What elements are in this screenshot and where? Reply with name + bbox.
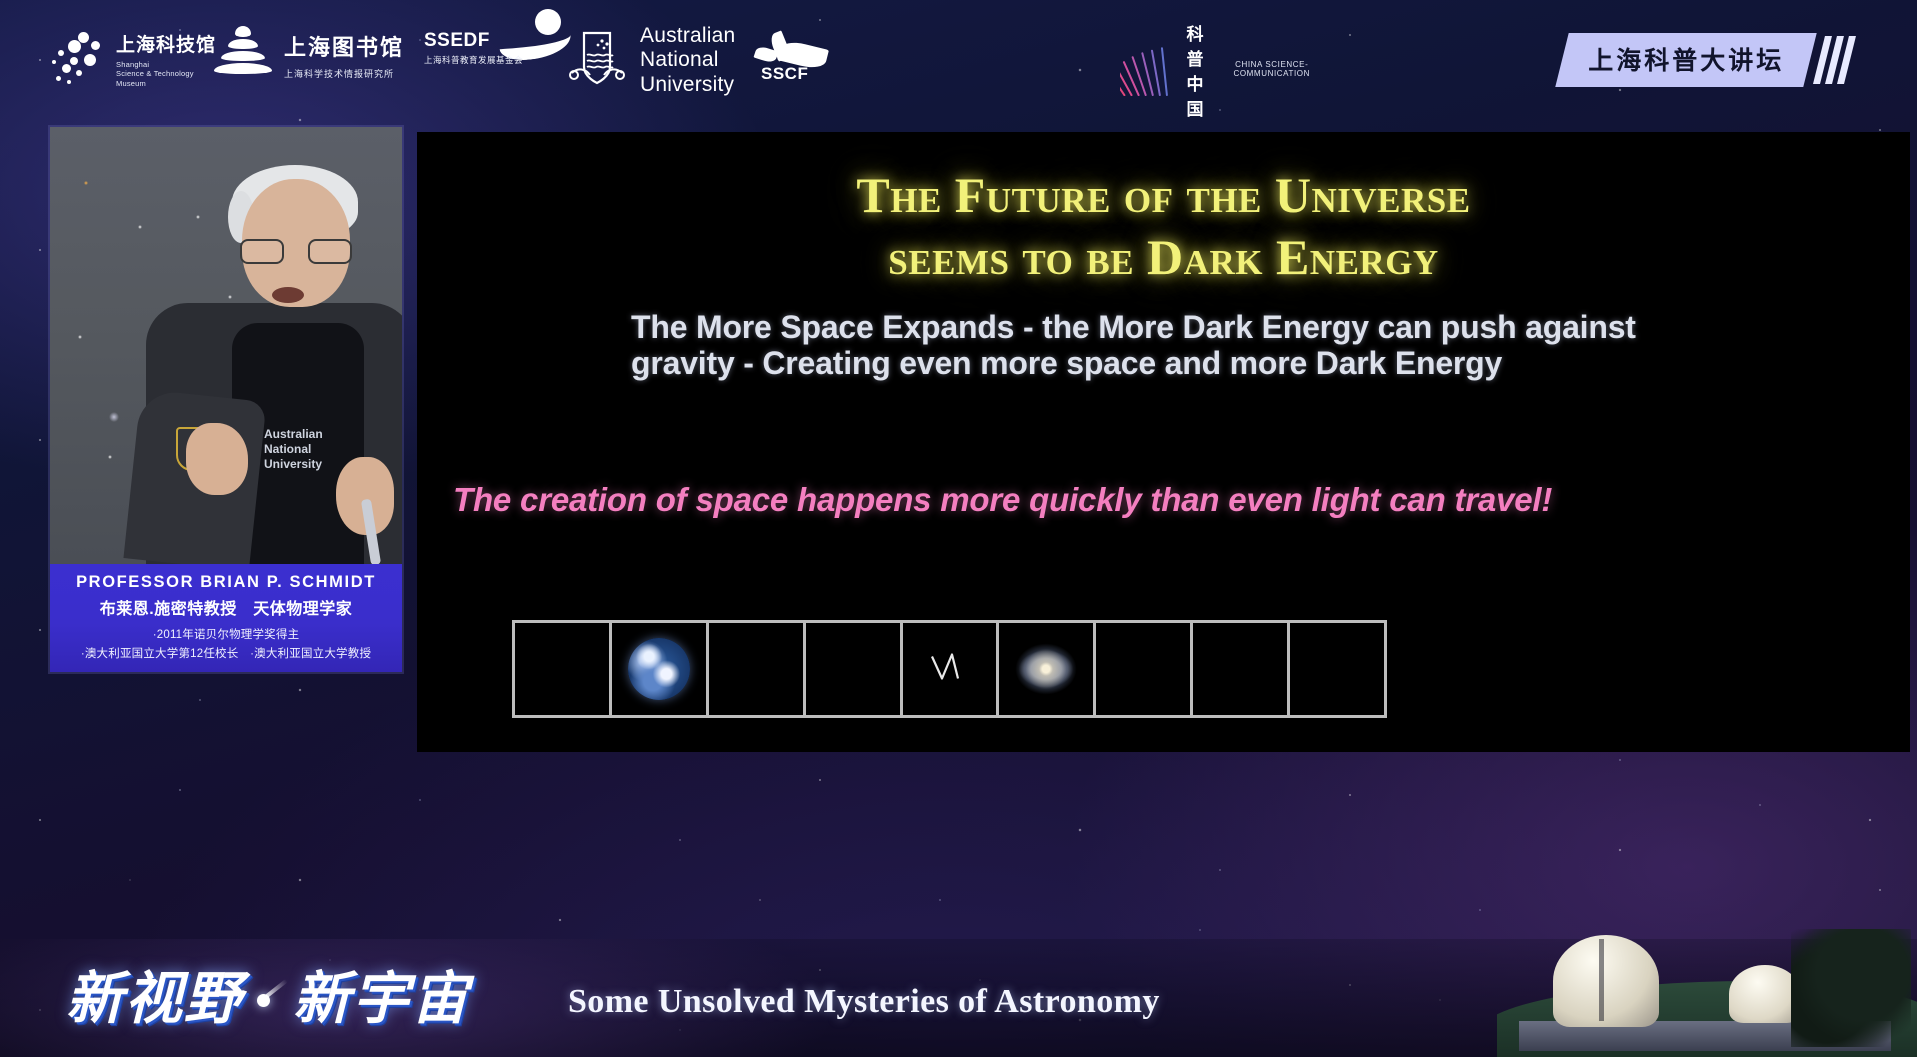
speaker-credential-1: ·2011年诺贝尔物理学奖得主 [50,626,402,642]
museum-name-en: Shanghai Science & Technology Museum [116,60,216,88]
filmstrip-cell [999,623,1096,715]
slide-body-text: The More Space Expands - the More Dark E… [631,310,1691,382]
museum-name-cn: 上海科技馆 [116,30,216,57]
speaker-hand-left [186,423,248,495]
filmstrip-cell [612,623,709,715]
logo-shanghai-science-technology-museum: 上海科技馆 Shanghai Science & Technology Muse… [48,30,216,88]
speaker-credential-2: ·澳大利亚国立大学第12任校长 ·澳大利亚国立大学教授 [50,645,402,661]
speaker-video-feed[interactable]: Australian National University [50,127,402,564]
filmstrip-cell [806,623,903,715]
presentation-slide[interactable]: The Future of the Universe seems to be D… [417,132,1910,752]
logo-sscf: SSCF [755,36,831,82]
observatory-illustration [1497,929,1917,1057]
filmstrip-cell [1096,623,1193,715]
slide-title-line-2: seems to be Dark Energy [417,226,1910,288]
library-name-cn: 上海图书馆 [284,30,404,62]
csc-fan-icon [1120,40,1168,96]
slide-title-line-1: The Future of the Universe [417,164,1910,226]
library-sub-cn: 上海科学技术情报研究所 [284,67,404,80]
tree-silhouette [1791,929,1911,1047]
anu-crest-icon [568,29,626,93]
speaker-name-en: PROFESSOR BRIAN P. SCHMIDT [50,573,402,592]
logo-australian-national-university: Australian National University [568,24,735,97]
bottom-banner: 新视野 新宇宙 Some Unsolved Mysteries of Astro… [0,939,1917,1057]
speaker-mouth [272,287,304,303]
series-title-cn-2: 新宇宙 [293,953,470,1035]
brand-tag-plate: 上海科普大讲坛 [1555,33,1816,87]
earth-icon [628,638,690,700]
museum-dots-icon [48,30,106,88]
filmstrip-cell [515,623,612,715]
speaker-name-cn: 布莱恩.施密特教授 天体物理学家 [50,595,402,619]
zigzag-icon [926,651,974,688]
expansion-filmstrip [512,620,1387,718]
header-logo-bar: 上海科技馆 Shanghai Science & Technology Muse… [0,0,1917,118]
logo-ssedf: SSEDF 上海科普教育发展基金会 [424,30,571,66]
sscf-abbr: SSCF [761,64,808,84]
logo-china-science-communication: 科普中国 CHINA SCIENCE-COMMUNICATION [1120,16,1310,120]
series-logo: 新视野 新宇宙 [66,953,470,1035]
sscf-leaf-icon: SSCF [755,36,831,82]
speaker-name-plate: PROFESSOR BRIAN P. SCHMIDT 布莱恩.施密特教授 天体物… [50,564,402,672]
ssedf-abbr: SSEDF [424,30,523,52]
slide-title: The Future of the Universe seems to be D… [417,164,1910,288]
speaker-panel: Australian National University PROFESSOR… [50,127,402,672]
slide-emphasis-text: The creation of space happens more quick… [453,478,1883,522]
galaxy-icon [1007,632,1085,706]
anu-wordmark: Australian National University [640,24,735,97]
ssedf-name-cn: 上海科普教育发展基金会 [424,54,523,66]
csc-name-en: CHINA SCIENCE-COMMUNICATION [1233,60,1310,78]
series-subtitle: Some Unsolved Mysteries of Astronomy [568,983,1160,1021]
comet-icon [253,979,283,1009]
library-pagoda-icon [212,26,274,84]
series-title-cn-1: 新视野 [66,953,243,1035]
broadcast-stage: 上海科技馆 Shanghai Science & Technology Muse… [0,0,1917,1057]
csc-name-cn: 科普中国 [1178,20,1224,120]
brand-tag: 上海科普大讲坛 [1562,33,1850,87]
filmstrip-cell [1193,623,1290,715]
filmstrip-cell [903,623,1000,715]
brand-tag-label: 上海科普大讲坛 [1588,41,1784,77]
filmstrip-cell [1290,623,1387,715]
logo-shanghai-library: 上海图书馆 上海科学技术情报研究所 [212,26,404,84]
filmstrip-cell [709,623,806,715]
brand-tag-stripes [1819,36,1850,84]
glasses-icon [240,239,352,265]
observatory-dome-large [1553,935,1659,1027]
